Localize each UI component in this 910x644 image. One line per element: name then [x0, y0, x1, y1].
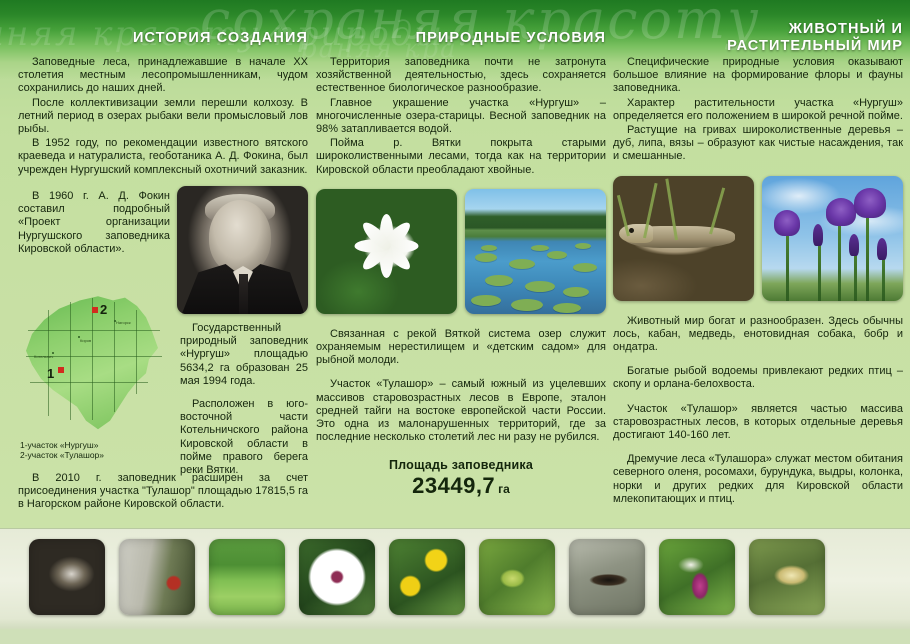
column-flora-fauna: Специфические природные условия оказываю… [613, 56, 903, 507]
history-reserve-location-paragraph: Расположен в юго-восточной части Котельн… [180, 398, 308, 477]
map-city-label: Нагорск [116, 320, 131, 325]
section-heading-natural-conditions: ПРИРОДНЫЕ УСЛОВИЯ [318, 30, 606, 47]
fauna-lower-paragraph-3: Участок «Тулашор» является частью массив… [613, 403, 903, 443]
fauna-paragraph-1: Специфические природные условия оказываю… [613, 56, 903, 96]
fauna-paragraph-2: Характер растительности участка «Нургуш»… [613, 97, 903, 123]
bottom-photo-strip [0, 528, 910, 644]
history-reserve-info-block: Государственный природный заповедник «Ну… [180, 322, 308, 477]
fauna-photo-row [613, 176, 903, 301]
map-district-line [92, 298, 93, 420]
longhorn-beetle-thumb[interactable] [569, 539, 645, 615]
map-district-line [114, 302, 115, 412]
fauna-lower-paragraph-2: Богатые рыбой водоемы привлекают редких … [613, 365, 903, 391]
column-history: Заповедные леса, принадлежавшие в начале… [18, 56, 308, 178]
oxbow-lake-photo [465, 189, 606, 314]
nature-photo-row [316, 189, 606, 314]
map-legend-item-1: 1-участок «Нургуш» [20, 440, 104, 450]
thumbnail-row [0, 529, 910, 625]
history-expansion-block: В 2010 г. заповедник расширен за счет пр… [18, 472, 308, 513]
fokin-portrait-photo [177, 186, 308, 314]
section-heading-flora-fauna: ЖИВОТНЫЙ И РАСТИТЕЛЬНЫЙ МИР [615, 21, 903, 54]
nature-lower-text: Связанная с рекой Вяткой система озер сл… [316, 328, 606, 445]
butterfly-on-orchid-thumb[interactable] [659, 539, 735, 615]
poster-canvas: сохраняя красоту раняя красоту природы..… [0, 0, 910, 644]
history-fokin-project-block: В 1960 г. А. Д. Фокин составил подробный… [18, 190, 170, 257]
nature-paragraph-3: Пойма р. Вятки покрыта старыми широколис… [316, 137, 606, 177]
great-spotted-woodpecker-thumb[interactable] [119, 539, 195, 615]
map-city-label: Котельнич [34, 354, 53, 359]
oak-acorn-thumb[interactable] [479, 539, 555, 615]
fauna-lower-paragraph-4: Дремучие леса «Тулашора» служат местом о… [613, 453, 903, 506]
map-legend: 1-участок «Нургуш» 2-участок «Тулашор» [20, 440, 104, 460]
column-natural-conditions: Территория заповедника почти не затронут… [316, 56, 606, 445]
fauna-paragraph-3: Растущие на гривах широколиственные дере… [613, 124, 903, 164]
history-paragraph-2: После коллективизации земли перешли колх… [18, 97, 308, 137]
white-flower-thumb[interactable] [299, 539, 375, 615]
hare-thumb[interactable] [209, 539, 285, 615]
history-fokin-project-paragraph: В 1960 г. А. Д. Фокин составил подробный… [18, 190, 170, 256]
reserve-area-block: Площадь заповедника 23449,7га [316, 458, 606, 499]
nature-paragraph-1: Территория заповедника почти не затронут… [316, 56, 606, 96]
reserve-area-value-row: 23449,7га [316, 473, 606, 499]
lizard-eye [629, 228, 634, 233]
nature-lower-paragraph-1: Связанная с рекой Вяткой система озер сл… [316, 328, 606, 368]
reserve-area-label: Площадь заповедника [316, 458, 606, 472]
map-marker-tulashor [92, 307, 98, 313]
portrait-face [209, 200, 271, 274]
map-marker-number-1: 1 [47, 366, 54, 381]
section-heading-history: ИСТОРИЯ СОЗДАНИЯ [20, 30, 308, 47]
map-marker-nurgush [58, 367, 64, 373]
map-district-line [28, 330, 160, 331]
map-marker-number-2: 2 [100, 302, 107, 317]
map-district-line [30, 382, 148, 383]
nature-lower-paragraph-2: Участок «Тулашор» – самый южный из уцеле… [316, 378, 606, 444]
yellow-globeflower-thumb[interactable] [389, 539, 465, 615]
fauna-lower-paragraph-1: Животный мир богат и разнообразен. Здесь… [613, 315, 903, 355]
section-heading-flora-fauna-line2: РАСТИТЕЛЬНЫЙ МИР [615, 38, 903, 55]
history-paragraph-3: В 1952 году, по рекомендации известного … [18, 137, 308, 177]
reserve-area-value: 23449,7 [412, 473, 495, 498]
map-region-shape [20, 292, 170, 432]
reserve-area-unit: га [498, 482, 510, 496]
water-lily-photo [316, 189, 457, 314]
kirov-region-map: Киров Котельнич Нагорск 2 1 1-участок «Н… [18, 290, 176, 438]
siberian-iris-photo [762, 176, 903, 301]
history-reserve-established-paragraph: Государственный природный заповедник «Ну… [180, 322, 308, 388]
history-expansion-paragraph: В 2010 г. заповедник расширен за счет пр… [18, 472, 308, 512]
nature-paragraph-2: Главное украшение участка «Нургуш» – мно… [316, 97, 606, 137]
sand-lizard-photo [613, 176, 754, 301]
map-legend-item-2: 2-участок «Тулашор» [20, 450, 104, 460]
raccoon-dog-thumb[interactable] [29, 539, 105, 615]
swallowtail-butterfly-thumb[interactable] [749, 539, 825, 615]
map-city-label: Киров [80, 338, 91, 343]
portrait-tie [239, 274, 248, 314]
section-heading-flora-fauna-line1: ЖИВОТНЫЙ И [615, 21, 903, 38]
history-paragraph-1: Заповедные леса, принадлежавшие в начале… [18, 56, 308, 96]
fauna-lower-text: Животный мир богат и разнообразен. Здесь… [613, 315, 903, 506]
map-district-line [70, 302, 71, 420]
map-district-line [48, 310, 49, 416]
